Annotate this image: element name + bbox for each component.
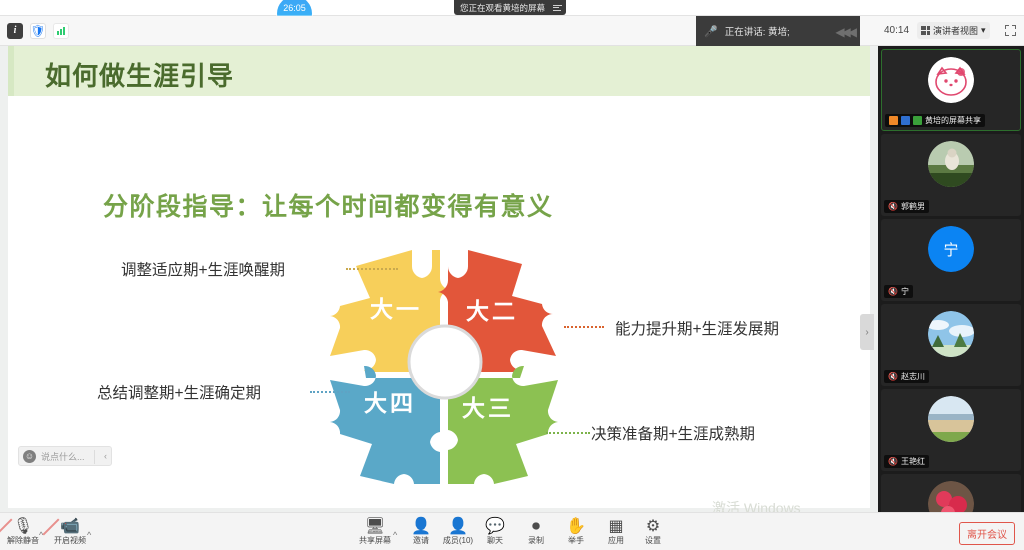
participant-name-bar: 🔇 赵志川: [884, 370, 929, 383]
microphone-badge-icon: [913, 116, 922, 125]
timer-bubble-value: 26:05: [283, 3, 306, 13]
avatar: [928, 141, 974, 187]
connector-line-year3: [546, 432, 590, 434]
callout-year1: 调整适应期+生涯唤醒期: [121, 258, 285, 280]
participant-tile-4[interactable]: 🔇 王艳红: [881, 389, 1021, 471]
zoom-meeting-window: 26:05 您正在观看黄培的屏幕 i 🛡 🎤 正在讲话: 黄培; ◀◀◀ 40:…: [0, 0, 1024, 550]
svg-text:宁: 宁: [943, 242, 958, 259]
participant-name-bar: 🔇 郭鹤男: [884, 200, 929, 213]
meeting-controls-right: 40:14 演讲者视图 ▾: [866, 16, 1024, 46]
slide-subtitle: 分阶段指导：让每个时间都变得有意义: [103, 187, 554, 223]
participant-tile-2[interactable]: 宁 🔇 宁: [881, 219, 1021, 301]
mic-muted-icon: 🔇: [888, 372, 898, 381]
meeting-toolbar: 🎙 解除静音 ^ 📹 开启视频 ^ 🖥 共享屏幕 ^ 👤 邀请 👤 成员(10)…: [0, 512, 1024, 550]
four-year-puzzle-diagram: 大一 大二 大三 大四: [326, 244, 570, 490]
active-speaker-text: 正在讲话: 黄培;: [725, 24, 790, 38]
menu-icon[interactable]: [553, 5, 562, 11]
puzzle-label-year3: 大三: [462, 389, 514, 423]
participant-name: 郭鹤男: [901, 201, 925, 212]
slide-title: 如何做生涯引导: [45, 56, 234, 93]
participant-tile-1[interactable]: 🔇 郭鹤男: [881, 134, 1021, 216]
leave-meeting-button[interactable]: 离开会议: [959, 522, 1015, 545]
view-mode-selector[interactable]: 演讲者视图 ▾: [917, 22, 990, 39]
emoji-icon[interactable]: ☺: [23, 450, 36, 463]
settings-button[interactable]: ⚙ 设置: [625, 518, 681, 546]
slide-accent-bar: [8, 46, 14, 96]
puzzle-label-year2: 大二: [466, 292, 518, 326]
mic-muted-icon: 🔇: [888, 202, 898, 211]
shield-icon[interactable]: 🛡: [30, 23, 46, 39]
puzzle-center-hole: [409, 326, 481, 398]
participant-name: 赵志川: [901, 371, 925, 382]
callout-year3: 决策准备期+生涯成熟期: [591, 422, 755, 444]
participant-tile-5[interactable]: 🔇: [881, 474, 1021, 512]
participant-name: 王艳红: [901, 456, 925, 467]
puzzle-svg: [326, 244, 570, 490]
connector-line-year4: [310, 391, 350, 393]
meeting-timer: 40:14: [884, 25, 909, 36]
participant-tile-0[interactable]: 黄培的屏幕共享: [881, 49, 1021, 131]
connector-line-year1: [346, 268, 398, 270]
waveform-icon: ◀◀◀: [835, 25, 854, 39]
collapse-icon[interactable]: ‹: [104, 451, 107, 461]
avatar: [928, 396, 974, 442]
puzzle-label-year1: 大一: [370, 290, 422, 324]
chevron-down-icon: ▾: [981, 25, 986, 36]
presentation-slide: 如何做生涯引导 分阶段指导：让每个时间都变得有意义 大一 大二: [8, 46, 870, 508]
participant-rail[interactable]: 黄培的屏幕共享 🔇 郭鹤男: [878, 46, 1024, 512]
reaction-input-placeholder: 说点什么...: [41, 450, 85, 463]
avatar: [928, 311, 974, 357]
participant-name-bar: 🔇 宁: [884, 285, 913, 298]
settings-gear-icon: ⚙: [625, 518, 681, 536]
avatar: [928, 57, 974, 103]
mic-muted-icon: 🔇: [888, 287, 898, 296]
participant-name-bar: 🔇 王艳红: [884, 455, 929, 468]
participant-name: 黄培的屏幕共享: [925, 115, 981, 126]
puzzle-label-year4: 大四: [364, 384, 416, 418]
settings-label: 设置: [625, 535, 681, 546]
avatar: 宁: [928, 226, 974, 272]
connector-line-year2: [564, 326, 604, 328]
shared-screen-stage: 如何做生涯引导 分阶段指导：让每个时间都变得有意义 大一 大二: [0, 46, 878, 512]
participant-tile-3[interactable]: 🔇 赵志川: [881, 304, 1021, 386]
active-speaker-banner: 🎤 正在讲话: 黄培; ◀◀◀: [696, 16, 860, 46]
participant-name: 宁: [901, 286, 909, 297]
divider: [94, 450, 95, 464]
reaction-input-bar[interactable]: ☺ 说点什么... ‹: [18, 446, 112, 466]
host-badge-icon: [889, 116, 898, 125]
participant-name-bar: 黄培的屏幕共享: [885, 114, 985, 127]
mic-muted-icon: 🔇: [888, 457, 898, 466]
network-signal-icon[interactable]: [53, 23, 69, 39]
viewing-notice-text: 您正在观看黄培的屏幕: [460, 2, 545, 14]
screen-share-badge-icon: [901, 116, 910, 125]
video-options-caret[interactable]: ^: [87, 530, 91, 540]
fullscreen-icon[interactable]: [1005, 25, 1016, 36]
microphone-icon: 🎤: [704, 25, 718, 38]
callout-year4: 总结调整期+生涯确定期: [97, 381, 261, 403]
info-icon[interactable]: i: [7, 23, 23, 39]
avatar: [928, 481, 974, 512]
collapse-sidebar-arrow[interactable]: ›: [860, 314, 874, 350]
callout-year2: 能力提升期+生涯发展期: [615, 317, 779, 339]
view-mode-label: 演讲者视图: [933, 24, 978, 37]
layout-grid-icon: [921, 26, 930, 35]
viewing-screen-notice[interactable]: 您正在观看黄培的屏幕: [454, 0, 566, 15]
